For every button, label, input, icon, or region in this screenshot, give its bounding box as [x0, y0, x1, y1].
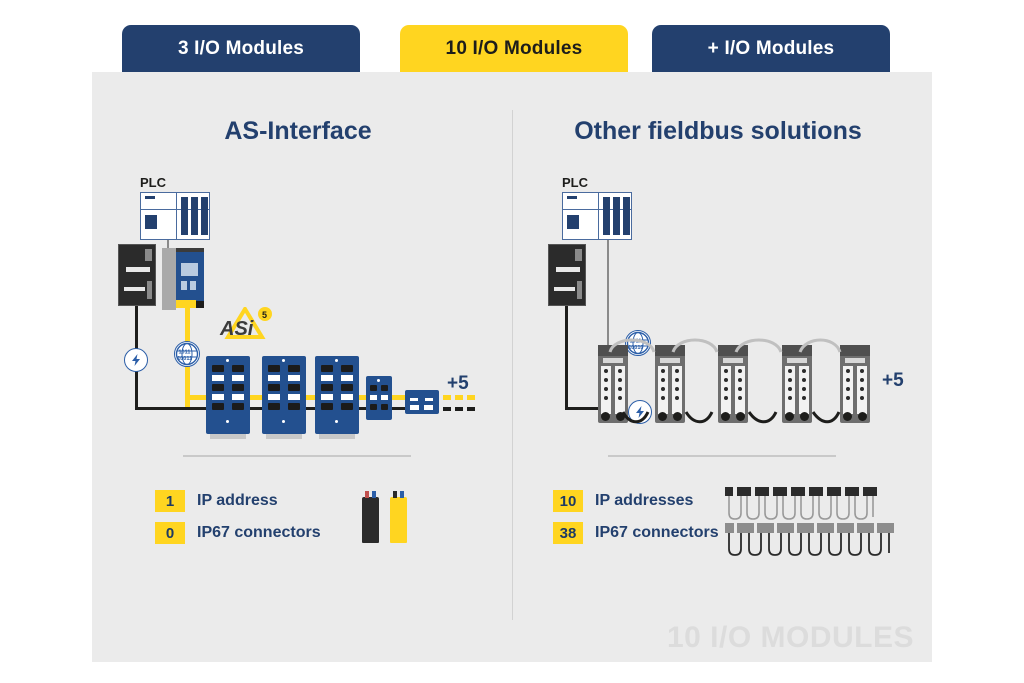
power-supply-left — [118, 244, 156, 306]
ip67-connector-icons-row-1 — [724, 487, 894, 523]
legend-value-badge: 10 — [553, 490, 583, 512]
asi-io-module — [262, 356, 306, 434]
tab-plus-io-modules[interactable]: + I/O Modules — [652, 25, 890, 73]
legend-value-badge: 1 — [155, 490, 185, 512]
column-divider — [512, 110, 513, 620]
left-legend-rule — [183, 455, 411, 457]
black-flat-cable-icon — [362, 497, 379, 543]
tab-3-io-modules[interactable]: 3 I/O Modules — [122, 25, 360, 73]
asi-io-module — [206, 356, 250, 434]
power-supply-cable-right — [565, 306, 568, 410]
yellow-flat-cable-icon — [390, 497, 407, 543]
right-column-title: Other fieldbus solutions — [568, 117, 868, 146]
extra-modules-label-right: +5 — [882, 370, 904, 392]
legend-label: IP addresses — [595, 492, 693, 510]
tab-label: 3 I/O Modules — [178, 38, 304, 60]
tab-bar: 3 I/O Modules 10 I/O Modules + I/O Modul… — [122, 25, 902, 73]
left-legend: 1 IP address 0 IP67 connectors — [155, 488, 321, 552]
svg-text:ASi: ASi — [219, 318, 254, 340]
fieldbus-interconnect-cables — [590, 330, 890, 440]
binary-data-icon-left: 1011 10011 — [174, 341, 200, 367]
tab-label: + I/O Modules — [708, 38, 835, 60]
legend-value-badge: 38 — [553, 522, 583, 544]
tab-label: 10 I/O Modules — [446, 38, 583, 60]
legend-item: 10 IP addresses — [553, 488, 719, 514]
watermark-label: 10 I/O MODULES — [667, 621, 914, 655]
ip67-connector-icons-row-2 — [724, 523, 904, 559]
legend-label: IP67 connectors — [197, 524, 321, 542]
asi-io-module-flat — [405, 390, 439, 414]
extra-modules-label-left: +5 — [447, 373, 469, 395]
tab-10-io-modules[interactable]: 10 I/O Modules — [400, 25, 628, 73]
right-legend-rule — [608, 455, 836, 457]
legend-item: 0 IP67 connectors — [155, 520, 321, 546]
legend-item: 38 IP67 connectors — [553, 520, 719, 546]
plc-label-right: PLC — [562, 175, 588, 190]
svg-text:10011: 10011 — [177, 356, 192, 362]
power-lightning-icon-left — [124, 348, 148, 372]
plc-rack-right — [562, 192, 632, 240]
legend-label: IP67 connectors — [595, 524, 719, 542]
svg-text:1011: 1011 — [179, 350, 191, 356]
power-supply-right — [548, 244, 586, 306]
svg-text:5: 5 — [262, 310, 267, 320]
right-legend: 10 IP addresses 38 IP67 connectors — [553, 488, 719, 552]
asi-gateway — [162, 248, 204, 310]
plc-rack-left — [140, 192, 210, 240]
plc-label-left: PLC — [140, 175, 166, 190]
asi-io-module — [315, 356, 359, 434]
legend-label: IP address — [197, 492, 278, 510]
infographic-root: 3 I/O Modules 10 I/O Modules + I/O Modul… — [0, 0, 1024, 683]
asi-io-module-small — [366, 376, 392, 420]
left-column-title: AS-Interface — [182, 117, 414, 146]
legend-value-badge: 0 — [155, 522, 185, 544]
asi-5-logo: ASi 5 — [218, 307, 274, 343]
legend-item: 1 IP address — [155, 488, 321, 514]
